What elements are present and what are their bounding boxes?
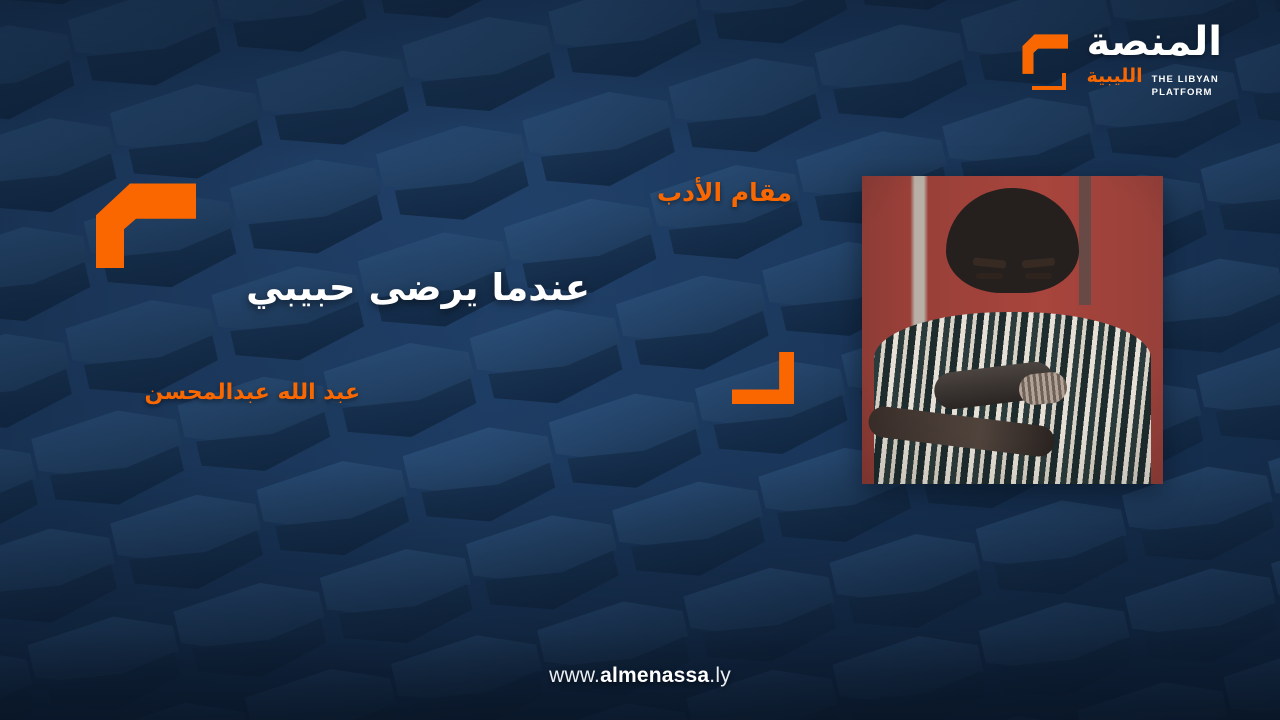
url-suffix: .ly [709, 664, 731, 687]
brand-name-arabic: المنصة [1086, 22, 1222, 62]
portrait-vignette [862, 176, 1163, 484]
brand-subtitle-group: THE LIBYAN PLATFORM الليبية [1086, 67, 1218, 100]
content-title: عندما يرضى حبيبي [246, 266, 590, 309]
almenassa-hook-mark-icon [1016, 30, 1072, 92]
url-prefix: www. [549, 664, 600, 687]
category-label: مقام الأدب [657, 178, 792, 207]
logo-hook-shape [1022, 32, 1068, 74]
brand-name-english-line2: PLATFORM [1152, 87, 1219, 100]
orange-hook-shape-icon [96, 180, 196, 268]
orange-corner-bracket-icon [732, 352, 794, 404]
media-card: المنصة THE LIBYAN PLATFORM الليبية مقام … [0, 0, 1280, 720]
brand-logo[interactable]: المنصة THE LIBYAN PLATFORM الليبية [1016, 22, 1222, 100]
website-url[interactable]: www.almenassa.ly [549, 664, 731, 688]
footer-bar: www.almenassa.ly [0, 632, 1280, 720]
author-portrait-photo [862, 176, 1163, 484]
brand-name-english: THE LIBYAN PLATFORM [1152, 74, 1219, 100]
url-brand: almenassa [600, 664, 709, 687]
brand-name-english-line1: THE LIBYAN [1152, 74, 1219, 87]
logo-corner-bracket-shape [1032, 73, 1066, 90]
author-name: عبد الله عبدالمحسن [145, 380, 360, 405]
brand-name-arabic-sub: الليبية [1086, 67, 1142, 86]
brand-logo-text: المنصة THE LIBYAN PLATFORM الليبية [1086, 22, 1222, 100]
